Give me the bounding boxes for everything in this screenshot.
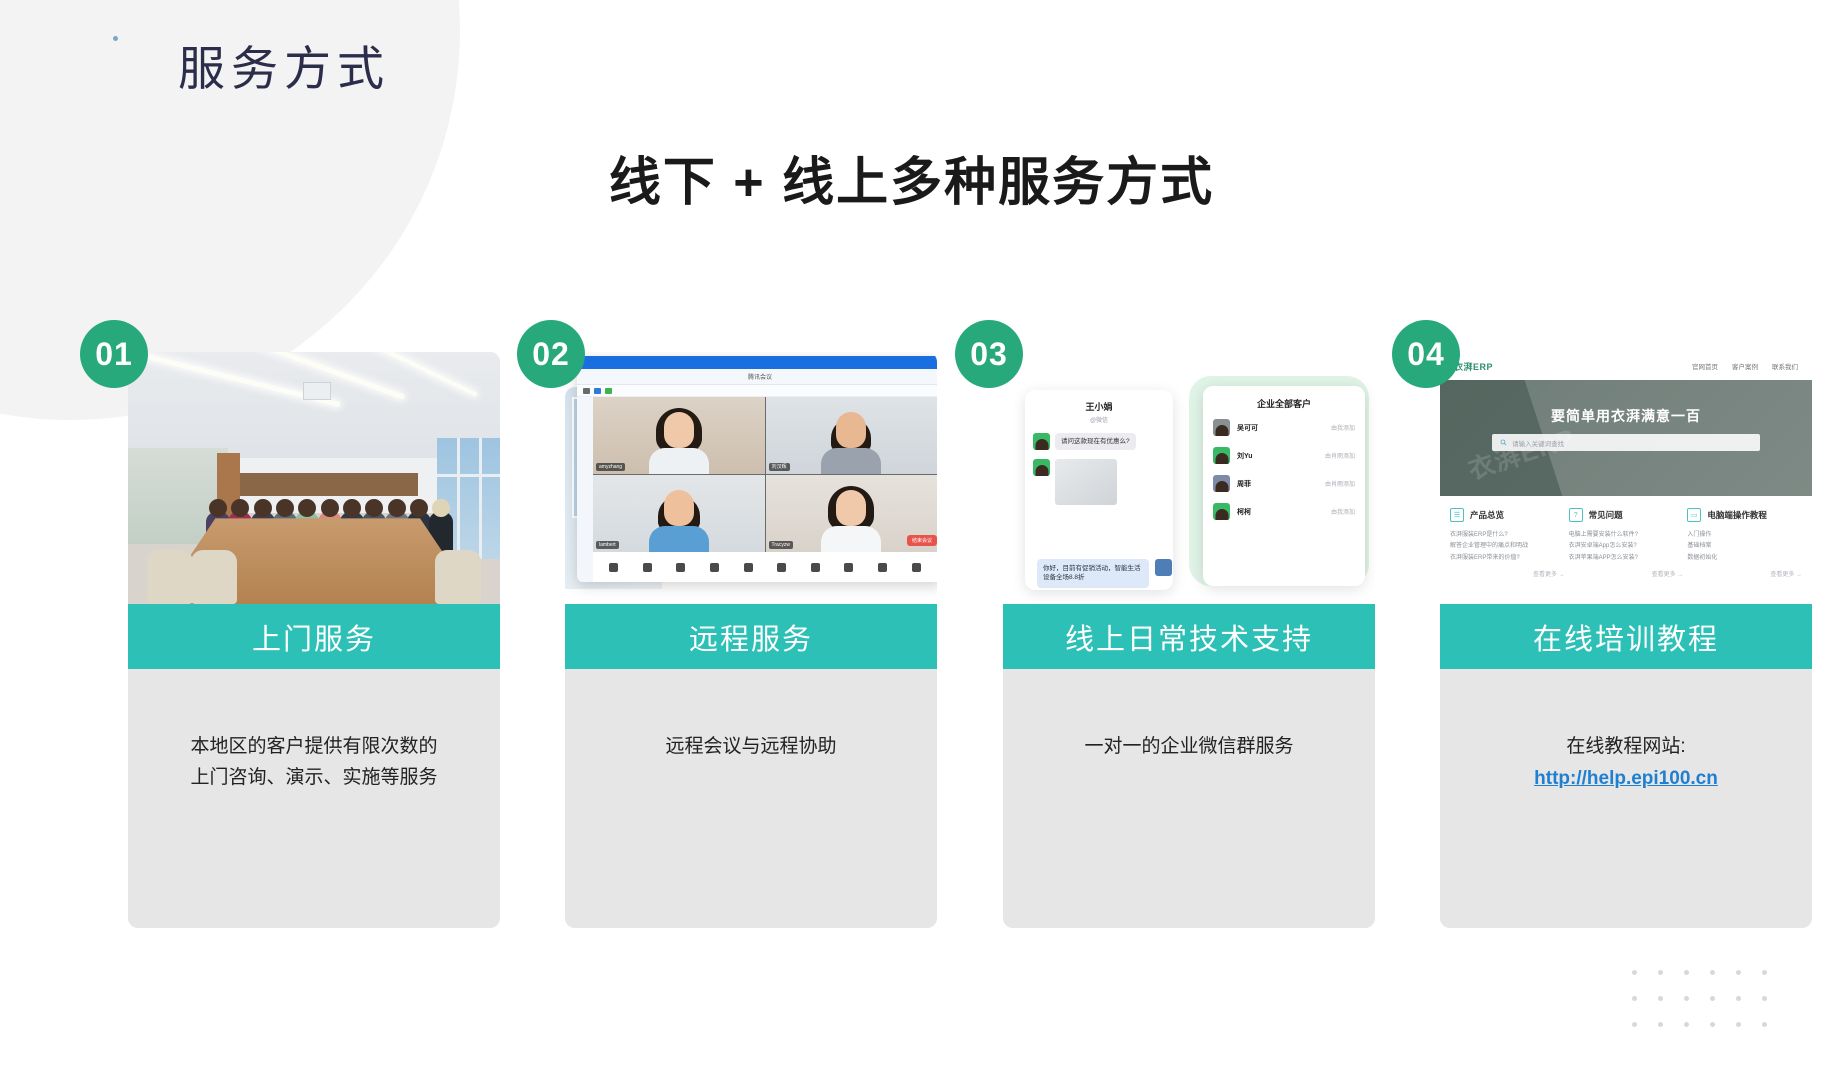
view-more-link[interactable]: 查看更多 → bbox=[1569, 569, 1684, 578]
service-cards: 01 bbox=[0, 300, 1823, 960]
site-column-tutorial: ▭ 电脑端操作教程 入门操作 基础档案 数据初始化 查看更多 → bbox=[1687, 508, 1802, 578]
participant-name-tag: 刘汉辉 bbox=[769, 463, 790, 471]
nav-link-contact[interactable]: 联系我们 bbox=[1772, 361, 1798, 371]
column-item[interactable]: 基础档案 bbox=[1687, 541, 1802, 552]
card-title-2: 远程服务 bbox=[689, 616, 813, 658]
avatar bbox=[1213, 419, 1230, 436]
site-column-product: ☰ 产品总览 衣湃服装ERP是什么? 解答企业管理中的痛点和明战 衣湃服装ERP… bbox=[1450, 508, 1565, 578]
participant-tile[interactable]: 刘汉辉 bbox=[766, 397, 938, 474]
hero-title: 要简单用衣湃满意一百 bbox=[1440, 406, 1812, 426]
column-item[interactable]: 入门操作 bbox=[1687, 530, 1802, 541]
chat-contact-source: @微信 bbox=[1033, 415, 1165, 424]
nav-link-home[interactable]: 官网首页 bbox=[1692, 361, 1718, 371]
card-desc-line2-1: 上门咨询、演示、实施等服务 bbox=[128, 762, 500, 793]
added-by: 由我添加 bbox=[1331, 423, 1355, 432]
page-title: 服务方式 bbox=[178, 43, 390, 95]
view-more-link[interactable]: 查看更多 → bbox=[1687, 569, 1802, 578]
list-item[interactable]: 刘Yu 由肖雨添加 bbox=[1213, 447, 1355, 464]
members-icon[interactable] bbox=[777, 563, 786, 572]
column-item[interactable]: 解答企业管理中的痛点和明战 bbox=[1450, 541, 1565, 552]
participant-grid: amyzhang 刘汉辉 lambert bbox=[593, 397, 937, 552]
meeting-controls[interactable] bbox=[593, 552, 937, 582]
card-media-help-site: 衣湃ERP 官网首页 客户案例 联系我们 衣湃ERP 要简单用衣湃满意一百 bbox=[1440, 352, 1812, 604]
chat-message-image bbox=[1033, 459, 1165, 505]
service-card-2[interactable]: 02 腾讯会议 bbox=[565, 352, 937, 928]
mute-icon[interactable] bbox=[609, 563, 618, 572]
column-item[interactable]: 衣湃苹果端APP怎么安装? bbox=[1569, 553, 1684, 564]
main-heading: 线下 + 线上多种服务方式 bbox=[0, 140, 1823, 215]
chat-contact-name: 王小娟 bbox=[1033, 400, 1165, 413]
card-number-badge-3: 03 bbox=[955, 320, 1023, 388]
video-icon[interactable] bbox=[643, 563, 652, 572]
card-desc-line1-4: 在线教程网站: bbox=[1440, 731, 1812, 762]
added-by: 由肖雨添加 bbox=[1325, 479, 1355, 488]
card-body-1: 本地区的客户提供有限次数的 上门咨询、演示、实施等服务 bbox=[128, 669, 500, 928]
search-input[interactable]: 请输入关键词查找 bbox=[1492, 434, 1760, 451]
card-band-1: 上门服务 bbox=[128, 604, 500, 669]
contact-name: 周菲 bbox=[1237, 479, 1318, 489]
agent-avatar bbox=[1155, 559, 1172, 576]
list-icon: ☰ bbox=[1450, 508, 1464, 522]
card-band-3: 线上日常技术支持 bbox=[1003, 604, 1375, 669]
participant-tile[interactable]: lambert bbox=[593, 475, 765, 552]
card-desc-line1-2: 远程会议与远程协助 bbox=[565, 731, 937, 762]
agent-chat-bubble: 你好，目前有促销活动，智能生活设备全场8.8折 bbox=[1037, 559, 1149, 589]
card-number-badge-2: 02 bbox=[517, 320, 585, 388]
chat-bubble-text: 请问这款现在有优惠么? bbox=[1055, 433, 1136, 450]
added-by: 由我添加 bbox=[1331, 507, 1355, 516]
avatar bbox=[1213, 475, 1230, 492]
card-media-conference-room bbox=[128, 352, 500, 604]
site-hero: 衣湃ERP 要简单用衣湃满意一百 请输入关键词查找 bbox=[1440, 380, 1812, 496]
customer-list-panel: 企业全部客户 吴可可 由我添加 刘Yu 由肖雨添加 bbox=[1203, 386, 1365, 586]
slide-root: 服务方式 线下 + 线上多种服务方式 01 bbox=[0, 0, 1823, 1065]
search-placeholder: 请输入关键词查找 bbox=[1512, 438, 1564, 448]
site-columns: ☰ 产品总览 衣湃服装ERP是什么? 解答企业管理中的痛点和明战 衣湃服装ERP… bbox=[1440, 496, 1812, 578]
service-card-3[interactable]: 03 王小娟 @微信 请问这款现在有优惠么? bbox=[1003, 352, 1375, 928]
question-icon: ? bbox=[1569, 508, 1583, 522]
customer-list-title: 企业全部客户 bbox=[1213, 397, 1355, 410]
column-item[interactable]: 电脑上需要安装什么软件? bbox=[1569, 530, 1684, 541]
column-item[interactable]: 衣湃服装ERP是什么? bbox=[1450, 530, 1565, 541]
chat-icon[interactable] bbox=[811, 563, 820, 572]
card-media-video-meeting: 腾讯会议 amyzhang bbox=[565, 352, 937, 604]
list-item[interactable]: 周菲 由肖雨添加 bbox=[1213, 475, 1355, 492]
chat-message: 请问这款现在有优惠么? bbox=[1033, 433, 1165, 450]
column-title: 常见问题 bbox=[1589, 509, 1623, 521]
column-title: 产品总览 bbox=[1470, 509, 1504, 521]
end-meeting-button[interactable]: 结束会议 bbox=[907, 535, 937, 546]
view-more-link[interactable]: 查看更多 → bbox=[1450, 569, 1565, 578]
list-item[interactable]: 柯柯 由我添加 bbox=[1213, 503, 1355, 520]
contact-name: 刘Yu bbox=[1237, 451, 1318, 461]
added-by: 由肖雨添加 bbox=[1325, 451, 1355, 460]
avatar bbox=[1213, 503, 1230, 520]
invite-icon[interactable] bbox=[744, 563, 753, 572]
nav-link-cases[interactable]: 客户案例 bbox=[1732, 361, 1758, 371]
card-body-2: 远程会议与远程协助 bbox=[565, 669, 937, 928]
virtual-background-icon[interactable] bbox=[710, 563, 719, 572]
share-screen-icon[interactable] bbox=[676, 563, 685, 572]
card-number-badge-4: 04 bbox=[1392, 320, 1460, 388]
card-title-4: 在线培训教程 bbox=[1533, 616, 1719, 658]
product-image bbox=[1055, 459, 1117, 505]
card-band-2: 远程服务 bbox=[565, 604, 937, 669]
participant-name-tag: amyzhang bbox=[596, 463, 625, 471]
avatar bbox=[1213, 447, 1230, 464]
tutorial-site-link[interactable]: http://help.epi100.cn bbox=[1534, 768, 1718, 790]
card-body-4: 在线教程网站: http://help.epi100.cn bbox=[1440, 669, 1812, 928]
decorative-dot bbox=[113, 36, 118, 41]
list-item[interactable]: 吴可可 由我添加 bbox=[1213, 419, 1355, 436]
card-body-3: 一对一的企业微信群服务 bbox=[1003, 669, 1375, 928]
card-band-4: 在线培训教程 bbox=[1440, 604, 1812, 669]
monitor-icon: ▭ bbox=[1687, 508, 1701, 522]
apps-icon[interactable] bbox=[878, 563, 887, 572]
search-icon bbox=[1500, 439, 1507, 446]
contact-name: 吴可可 bbox=[1237, 423, 1324, 433]
card-title-3: 线上日常技术支持 bbox=[1065, 616, 1313, 658]
card-title-1: 上门服务 bbox=[252, 616, 376, 658]
card-desc-line1-3: 一对一的企业微信群服务 bbox=[1003, 731, 1375, 762]
meeting-titlebar bbox=[577, 356, 937, 369]
settings-icon[interactable] bbox=[912, 563, 921, 572]
participant-name-tag: lambert bbox=[596, 541, 619, 549]
decorative-dot-grid bbox=[1621, 959, 1777, 1037]
card-desc-line1-1: 本地区的客户提供有限次数的 bbox=[128, 731, 500, 762]
column-title: 电脑端操作教程 bbox=[1707, 509, 1767, 521]
card-media-wechat-chat: 王小娟 @微信 请问这款现在有优惠么? 你好，目前有促销活动，智能生 bbox=[1003, 352, 1375, 604]
column-item[interactable]: 衣湃安卓端App怎么安装? bbox=[1569, 541, 1684, 552]
service-card-1[interactable]: 01 bbox=[128, 352, 500, 928]
avatar bbox=[1033, 459, 1050, 476]
avatar bbox=[1033, 433, 1050, 450]
column-item[interactable]: 衣湃服装ERP带来的价值? bbox=[1450, 553, 1565, 564]
column-item[interactable]: 数据初始化 bbox=[1687, 553, 1802, 564]
card-number-badge-1: 01 bbox=[80, 320, 148, 388]
meeting-window: 腾讯会议 amyzhang bbox=[577, 356, 937, 582]
site-logo: 衣湃ERP bbox=[1454, 360, 1493, 373]
record-icon[interactable] bbox=[844, 563, 853, 572]
contact-name: 柯柯 bbox=[1237, 507, 1324, 517]
meeting-window-title: 腾讯会议 bbox=[748, 372, 772, 381]
service-card-4[interactable]: 04 衣湃ERP 官网首页 客户案例 联系我们 bbox=[1440, 352, 1812, 928]
participant-tile[interactable]: amyzhang bbox=[593, 397, 765, 474]
participant-name-tag: Tracyzw bbox=[769, 541, 793, 549]
site-navbar: 衣湃ERP 官网首页 客户案例 联系我们 bbox=[1440, 352, 1812, 380]
site-column-faq: ? 常见问题 电脑上需要安装什么软件? 衣湃安卓端App怎么安装? 衣湃苹果端A… bbox=[1569, 508, 1684, 578]
